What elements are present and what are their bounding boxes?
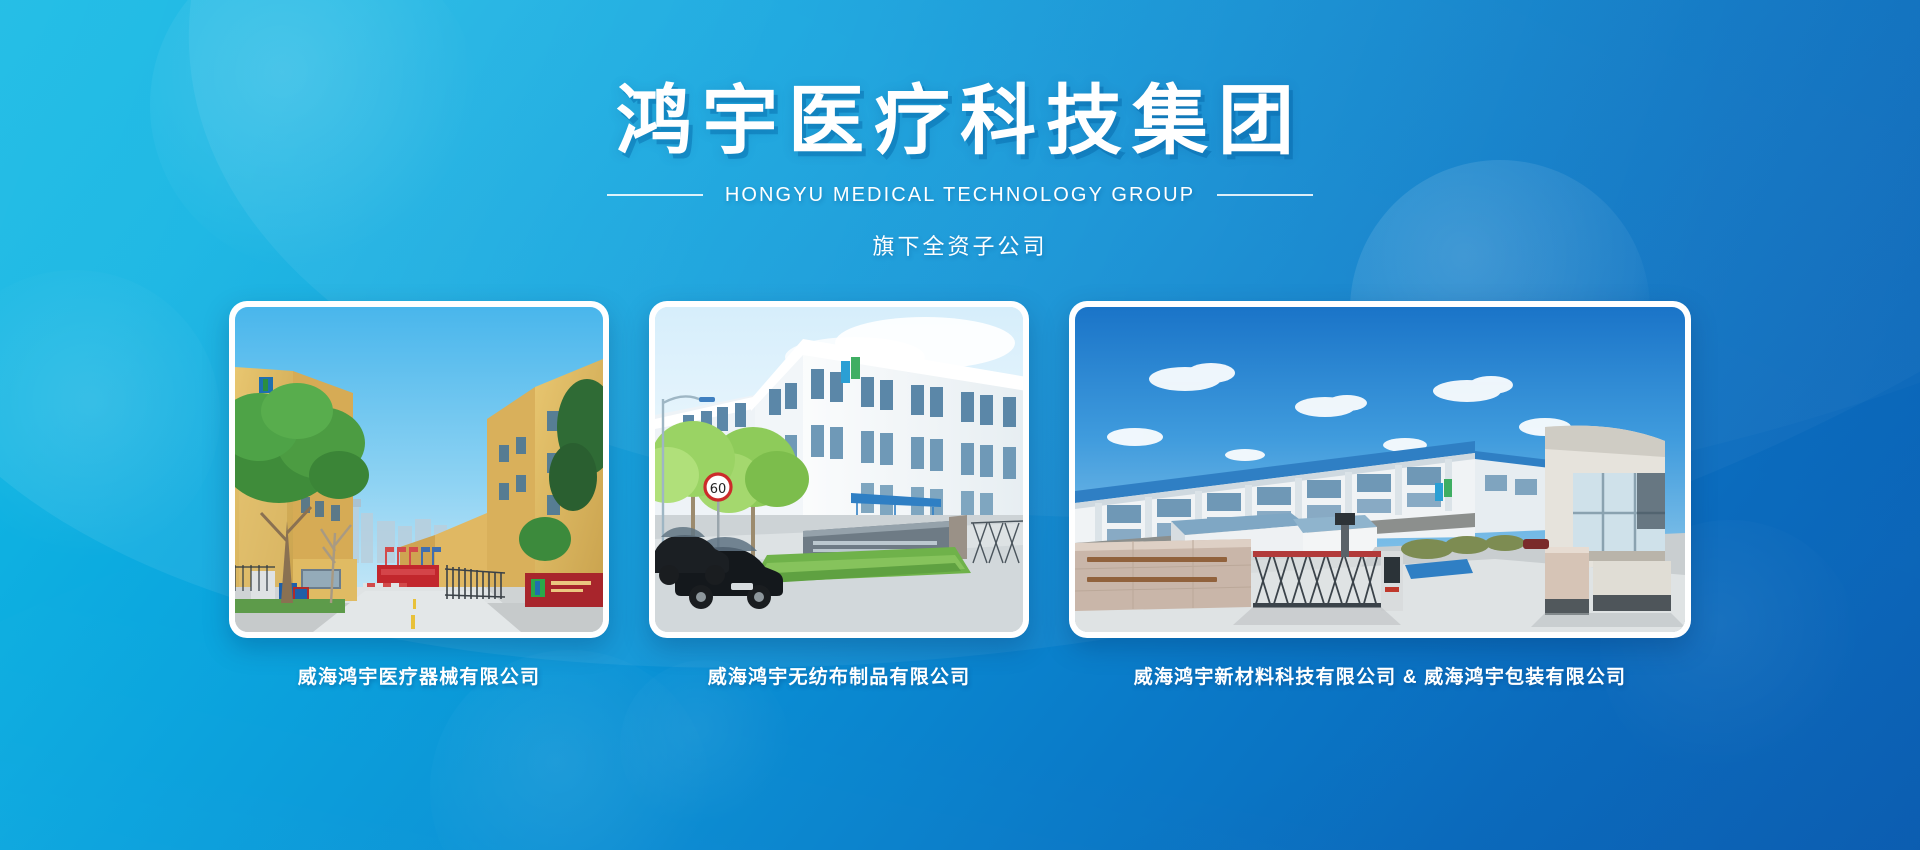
banner-stage: 鸿宇医疗科技集团 HONGYU MEDICAL TECHNOLOGY GROUP… (0, 0, 1920, 850)
photo-nonwoven-office-building: 60 (655, 307, 1023, 632)
page-title: 鸿宇医疗科技集团 (0, 82, 1920, 162)
photo-newmaterial-and-packaging-plant (1075, 307, 1685, 632)
office-photo-illustration: 60 (655, 307, 1023, 632)
subsidiary-card-2[interactable]: 60 (649, 301, 1029, 689)
subsidiary-card-1[interactable]: 威海鸿宇医疗器械有限公司 (229, 301, 609, 689)
photo-medical-device-campus (235, 307, 603, 632)
plant-photo-illustration (1075, 307, 1685, 632)
photo-frame-1 (229, 301, 609, 638)
svg-text:60: 60 (710, 482, 727, 497)
photo-frame-3 (1069, 301, 1691, 638)
rule-left-icon (607, 194, 703, 196)
subtitle-chinese: 旗下全资子公司 (0, 229, 1920, 261)
card-caption-2: 威海鸿宇无纺布制品有限公司 (708, 662, 971, 689)
card-caption-3: 威海鸿宇新材料科技有限公司 & 威海鸿宇包装有限公司 (1134, 662, 1626, 689)
banner-header: 鸿宇医疗科技集团 HONGYU MEDICAL TECHNOLOGY GROUP… (0, 0, 1920, 261)
rule-right-icon (1217, 194, 1313, 196)
campus-photo-illustration (235, 307, 603, 632)
subsidiary-card-row: 威海鸿宇医疗器械有限公司 (0, 301, 1920, 689)
card-caption-1: 威海鸿宇医疗器械有限公司 (298, 662, 540, 689)
photo-frame-2: 60 (649, 301, 1029, 638)
subsidiary-card-3[interactable]: 威海鸿宇新材料科技有限公司 & 威海鸿宇包装有限公司 (1069, 301, 1691, 689)
subtitle-english: HONGYU MEDICAL TECHNOLOGY GROUP (725, 184, 1195, 207)
subtitle-english-row: HONGYU MEDICAL TECHNOLOGY GROUP (0, 184, 1920, 207)
